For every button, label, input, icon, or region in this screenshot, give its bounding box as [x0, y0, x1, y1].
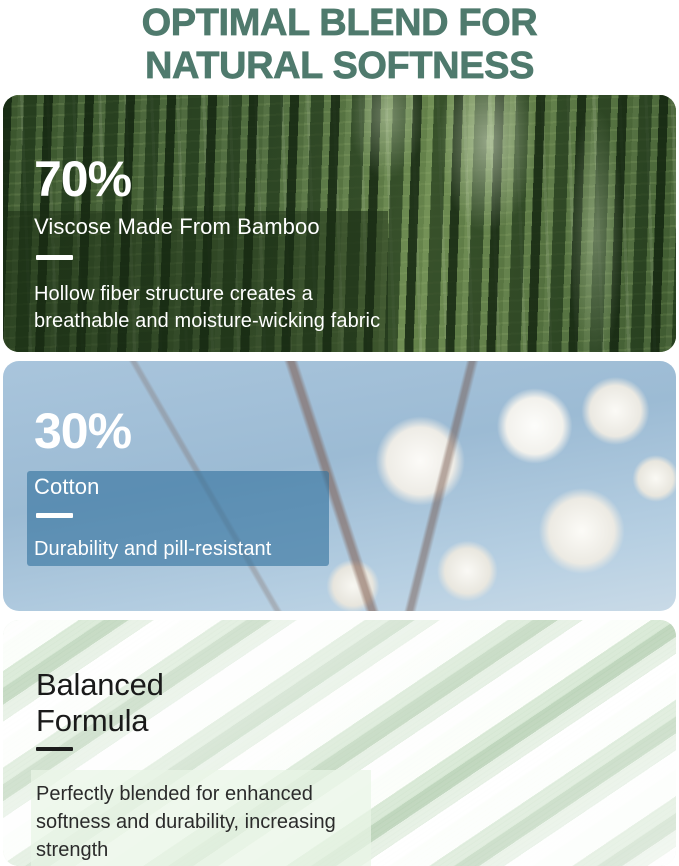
infographic-page: OPTIMAL BLEND FOR NATURAL SOFTNESS 70% V… [0, 0, 679, 866]
panel-cotton: 30% Cotton Durability and pill-resistant [3, 361, 676, 611]
formula-panel-content: Balanced Formula Perfectly blended for e… [3, 620, 676, 866]
cotton-divider-rule [36, 513, 73, 518]
panel-bamboo: 70% Viscose Made From Bamboo Hollow fibe… [3, 95, 676, 352]
bamboo-subtitle: Viscose Made From Bamboo [34, 214, 320, 240]
cotton-subtitle: Cotton [34, 474, 99, 500]
page-title-line-1: OPTIMAL BLEND FOR [0, 2, 679, 45]
formula-heading-line-2: Formula [36, 703, 164, 739]
bamboo-percentage: 70% [34, 153, 131, 205]
cotton-percentage: 30% [34, 405, 131, 457]
bamboo-panel-content: 70% Viscose Made From Bamboo Hollow fibe… [3, 95, 676, 352]
panel-balanced-formula: Balanced Formula Perfectly blended for e… [3, 620, 676, 866]
formula-heading: Balanced Formula [36, 667, 164, 739]
formula-divider-rule [36, 747, 73, 751]
formula-heading-line-1: Balanced [36, 667, 164, 703]
cotton-description: Durability and pill-resistant [34, 536, 324, 563]
page-title: OPTIMAL BLEND FOR NATURAL SOFTNESS [0, 2, 679, 88]
bamboo-description: Hollow fiber structure creates a breatha… [34, 281, 384, 335]
cotton-panel-content: 30% Cotton Durability and pill-resistant [3, 361, 676, 611]
bamboo-divider-rule [36, 255, 73, 260]
page-title-line-2: NATURAL SOFTNESS [0, 45, 679, 88]
formula-description: Perfectly blended for enhanced softness … [36, 780, 376, 864]
